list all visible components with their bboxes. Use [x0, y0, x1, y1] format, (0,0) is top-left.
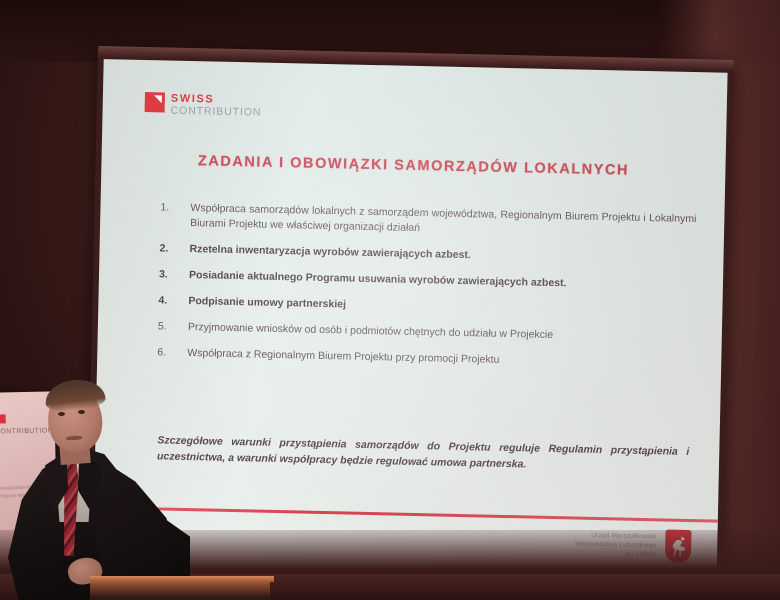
slide-title: ZADANIA I OBOWIĄZKI SAMORZĄDÓW LOKALNYCH: [101, 151, 725, 181]
list-item: 2. Rzetelna inwentaryzacja wyrobów zawie…: [159, 241, 695, 268]
tasks-list: 1. Współpraca samorządów lokalnych z sam…: [157, 200, 697, 383]
list-item-text: Rzetelna inwentaryzacja wyrobów zawieraj…: [189, 242, 695, 268]
speaker-figure: [0, 382, 230, 600]
list-item: 4. Podpisanie umowy partnerskiej: [158, 293, 694, 320]
list-item: 3. Posiadanie aktualnego Programu usuwan…: [159, 267, 695, 294]
brand-word-contribution: CONTRIBUTION: [170, 105, 261, 118]
list-item-number: 1.: [160, 200, 191, 231]
eye-right: [78, 410, 85, 414]
swiss-contribution-logo: SWISS CONTRIBUTION: [144, 92, 261, 118]
presentation-photo: CONTRIBUTION Szwajcarsko-Polski Program …: [0, 0, 780, 600]
list-item-text: Współpraca z Regionalnym Biurem Projektu…: [187, 346, 693, 372]
list-item: 1. Współpraca samorządów lokalnych z sam…: [160, 200, 697, 242]
list-item-text: Podpisanie umowy partnerskiej: [188, 294, 694, 320]
list-item-number: 6.: [157, 345, 187, 361]
podium-top-edge: [90, 576, 274, 582]
swiss-contribution-mark-icon: [145, 92, 165, 112]
list-item-number: 5.: [158, 319, 188, 335]
list-item-text: Przyjmowanie wniosków od osób i podmiotó…: [188, 320, 694, 346]
list-item-number: 2.: [159, 241, 189, 257]
list-item: 5. Przyjmowanie wniosków od osób i podmi…: [158, 319, 694, 346]
slide-footnote: Szczegółowe warunki przystąpienia samorz…: [157, 432, 690, 476]
list-item-text: Współpraca samorządów lokalnych z samorz…: [190, 201, 697, 242]
list-item: 6. Współpraca z Regionalnym Biurem Proje…: [157, 345, 693, 372]
eye-left: [58, 412, 65, 416]
list-item-number: 4.: [158, 293, 188, 309]
list-item-text: Posiadanie aktualnego Programu usuwania …: [189, 268, 695, 294]
list-item-number: 3.: [159, 267, 189, 283]
